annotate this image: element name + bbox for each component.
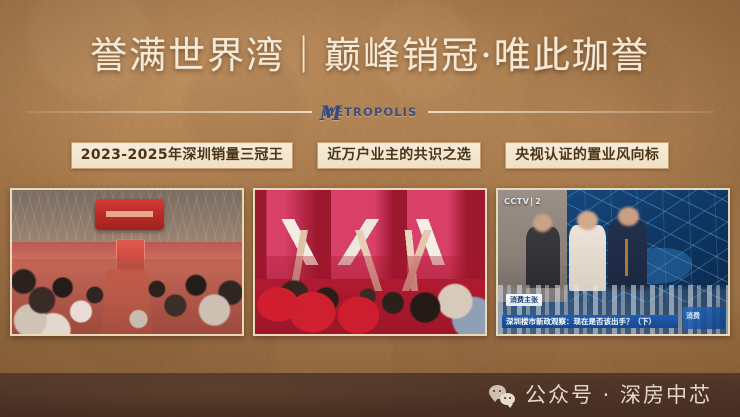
cctv-broadcast-photo: CCTV 2 消费主张 深圳楼市新政观察：现在是否该出手？（下） 消费 (496, 188, 730, 336)
promotional-poster: 誉满世界湾｜巅峰销冠·唯此珈誉 METROPOLIS M 2023-2025年深… (0, 0, 740, 417)
wechat-account-block: 公众号 · 深房中芯 (489, 385, 712, 406)
badge-owner-consensus: 近万户业主的共识之选 (317, 142, 481, 169)
conference-hall-photo (10, 188, 244, 336)
metropolis-logo: METROPOLIS M (312, 100, 429, 124)
achievement-badge-row: 2023-2025年深圳销量三冠王 近万户业主的共识之选 央视认证的置业风向标 (0, 142, 740, 169)
person-presenter (608, 220, 647, 292)
divider-line-right (428, 111, 714, 113)
cctv-channel-number: 2 (531, 197, 541, 206)
hall-stage-banner (95, 199, 164, 231)
wechat-dot-3 (504, 397, 506, 399)
broadcast-lower-third: 深圳楼市新政观察：现在是否该出手？（下） (502, 315, 678, 329)
person-left (526, 227, 561, 287)
person-center (569, 225, 606, 291)
corner-watermark-text: 消费 (686, 311, 700, 321)
photo-gallery: CCTV 2 消费主张 深圳楼市新政观察：现在是否该出手？（下） 消费 (10, 188, 730, 336)
wechat-dot-2 (499, 390, 501, 392)
badge-cctv-certified: 央视认证的置业风向标 (505, 142, 669, 169)
wechat-icon (489, 385, 515, 405)
footer-bar: 公众号 · 深房中芯 (0, 373, 740, 417)
cctv-channel-name: CCTV (504, 197, 529, 206)
cctv-channel-logo: CCTV 2 (504, 197, 541, 206)
celebration-crowd (255, 256, 485, 334)
brand-divider: METROPOLIS M (26, 100, 714, 124)
wechat-dot-1 (493, 390, 495, 392)
wechat-account-name: 公众号 · 深房中芯 (525, 385, 712, 406)
logo-script-monogram: M (320, 101, 340, 125)
sales-celebration-photo (253, 188, 487, 336)
program-name-tag: 消费主张 (506, 294, 542, 306)
badge-sales-champion: 2023-2025年深圳销量三冠王 (71, 142, 294, 169)
poster-headline: 誉满世界湾｜巅峰销冠·唯此珈誉 (0, 30, 740, 82)
wechat-bubble-front (500, 393, 515, 406)
hall-audience (12, 259, 242, 334)
broadcast-corner-watermark: 消费 (683, 307, 725, 329)
divider-line-left (26, 111, 312, 113)
